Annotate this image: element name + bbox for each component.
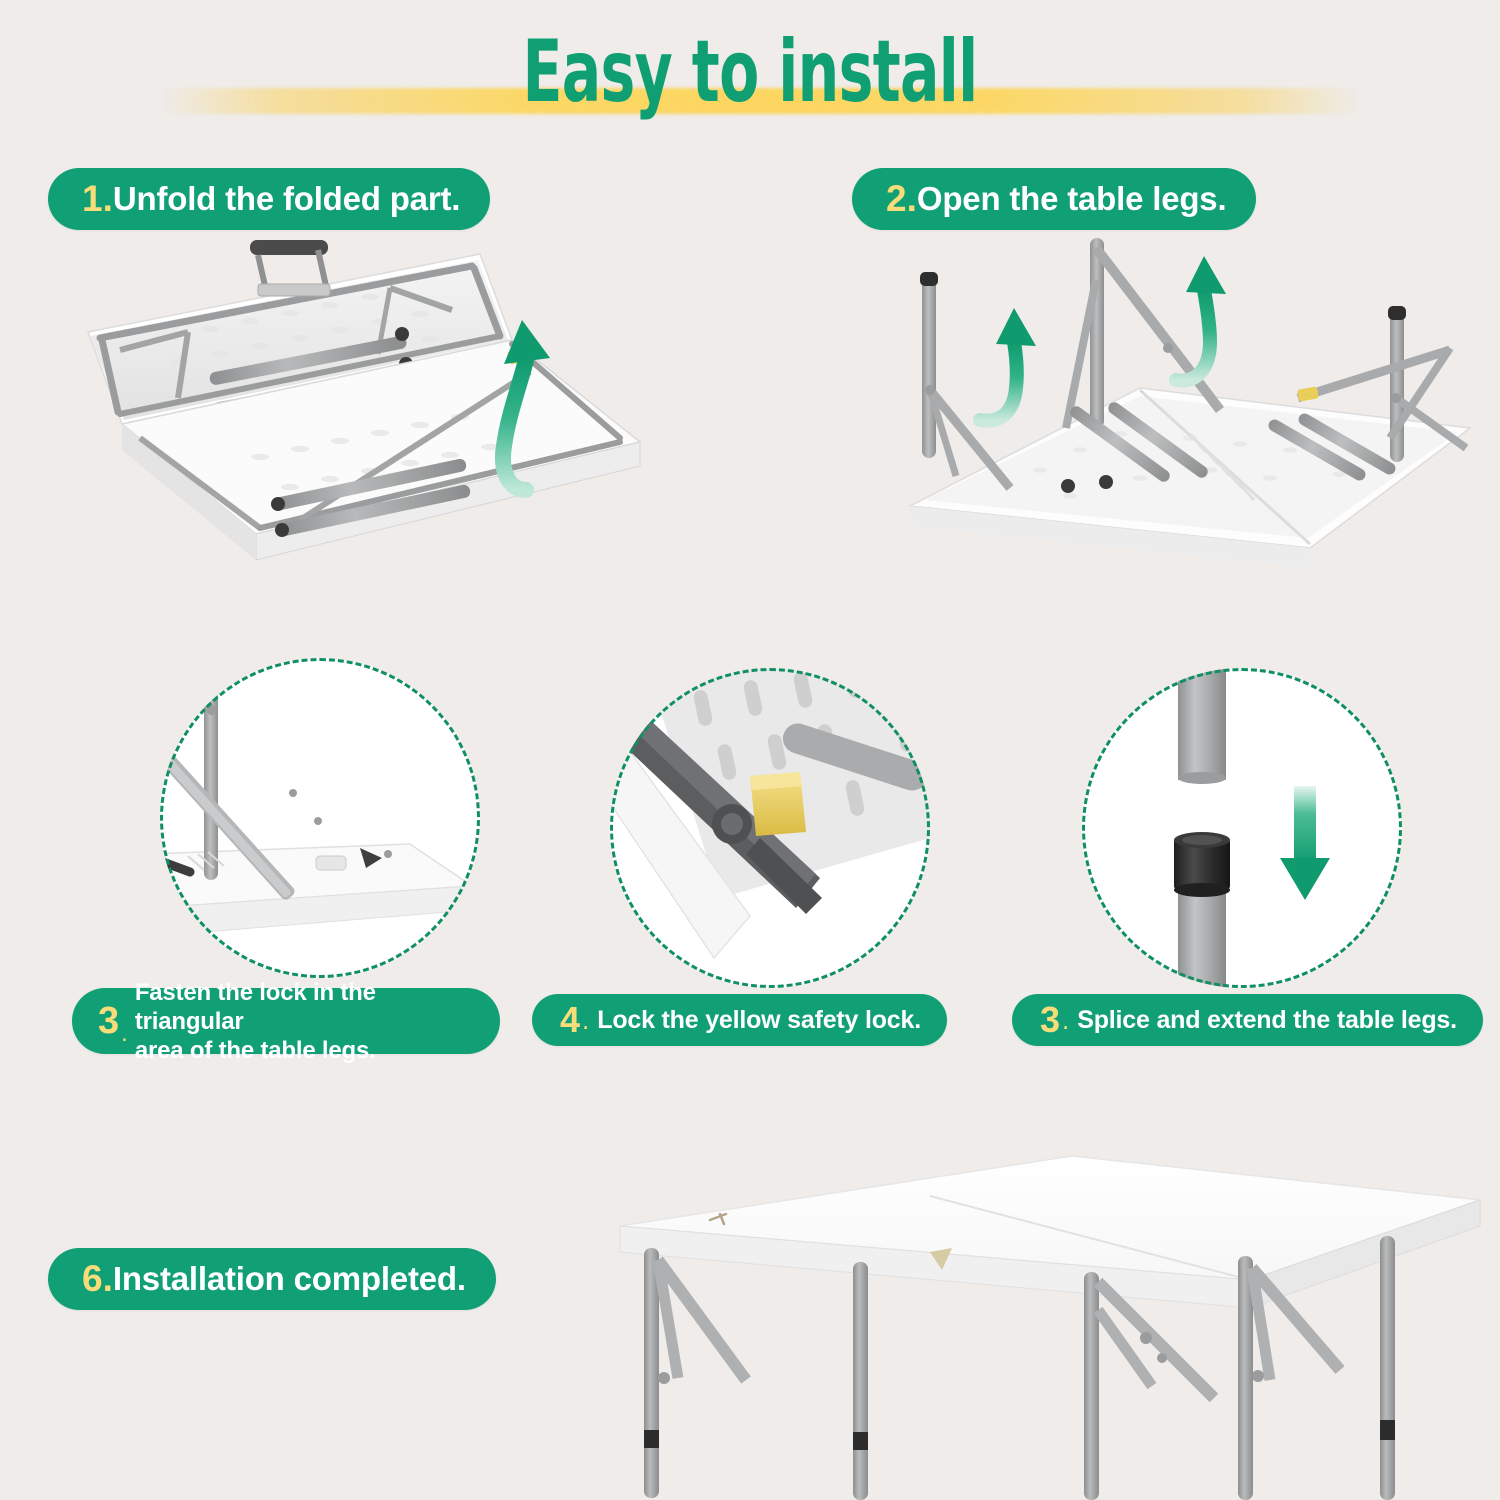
step-6-text: Installation completed.: [113, 1260, 466, 1298]
inset-2-clip: [610, 668, 930, 988]
leg-far-right: [1380, 1236, 1395, 1500]
page-title: Easy to install: [240, 22, 1260, 122]
step-5-separator: .: [1062, 1005, 1069, 1036]
step-3-text-line1: Fasten the lock in the triangular: [135, 979, 376, 1035]
lower-leg-tube: [1174, 832, 1230, 988]
infographic-page: Easy to install 1 . Unfold the folded pa…: [0, 0, 1500, 1500]
step-3-text-line2: area of the table legs.: [135, 1037, 376, 1064]
step-2-text: Open the table legs.: [917, 180, 1227, 218]
inset-1-clip: [160, 658, 480, 978]
step-6-number: 6: [82, 1258, 103, 1300]
open-legs-arrow-left-icon: [980, 308, 1036, 421]
step-6-separator: .: [103, 1258, 113, 1300]
step-3-image: [160, 658, 480, 978]
table-top-surface: [620, 1156, 1480, 1308]
step-3-text-block: Fasten the lock in the triangular area o…: [135, 978, 480, 1065]
step-5-text: Splice and extend the table legs.: [1077, 1006, 1457, 1035]
step-5-label: 3 . Splice and extend the table legs.: [1012, 994, 1483, 1046]
upper-leg-tube: [1178, 668, 1226, 784]
table-leg-tube: [204, 668, 218, 880]
step-1-image: [60, 232, 680, 632]
step-2-number: 2: [886, 178, 907, 220]
step-4-label: 4 . Lock the yellow safety lock.: [532, 994, 947, 1046]
step-1-label: 1 . Unfold the folded part.: [48, 168, 490, 230]
step-5-image: [1082, 668, 1402, 988]
step-3-number: 3: [98, 1002, 119, 1040]
step-2-separator: .: [907, 178, 917, 220]
step-2-label: 2 . Open the table legs.: [852, 168, 1256, 230]
step-1-text: Unfold the folded part.: [113, 180, 460, 218]
yellow-safety-lock: [1297, 386, 1319, 401]
step-2-image: [890, 238, 1490, 568]
step-4-separator: .: [582, 1005, 589, 1036]
leg-back-left: [853, 1262, 868, 1500]
insert-down-arrow-icon: [1280, 786, 1330, 900]
yellow-safety-lock: [750, 772, 806, 836]
step-3-separator: .: [121, 1020, 128, 1054]
step-3-label: 3 . Fasten the lock in the triangular ar…: [72, 988, 500, 1054]
leg-front-right: [1084, 1272, 1099, 1500]
step-6-label: 6 . Installation completed.: [48, 1248, 496, 1310]
step-6-image: [600, 1130, 1500, 1500]
step-4-image: [610, 668, 930, 988]
step-4-text: Lock the yellow safety lock.: [597, 1006, 921, 1035]
table-leg-left: [920, 272, 1010, 488]
inset-3-clip: [1082, 668, 1402, 988]
step-1-number: 1: [82, 178, 103, 220]
step-1-separator: .: [103, 178, 113, 220]
step-5-number: 3: [1040, 1002, 1060, 1038]
step-4-number: 4: [560, 1002, 580, 1038]
carry-handle: [250, 240, 330, 296]
